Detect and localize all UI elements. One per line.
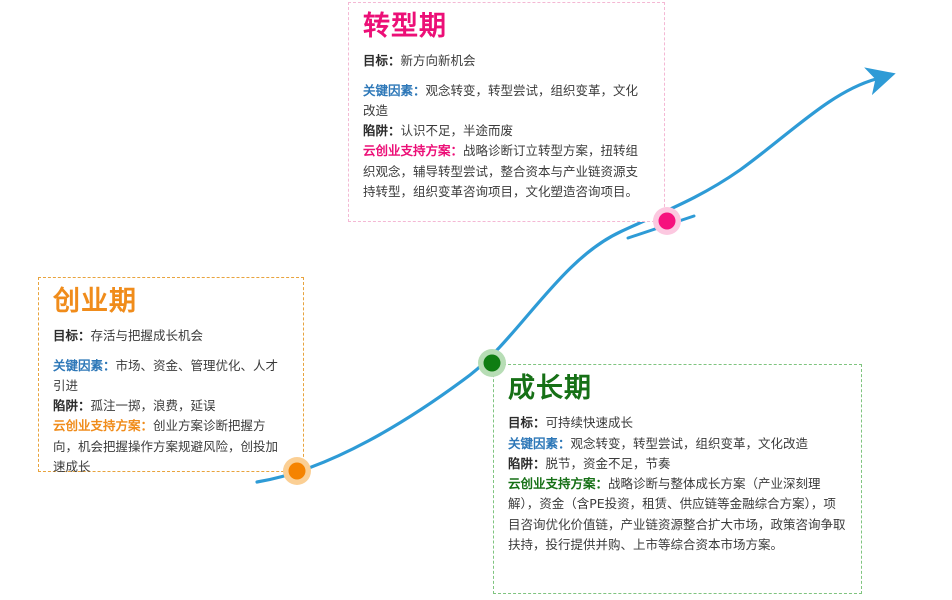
key-factors-value: 观念转变，转型尝试，组织变革，文化改造 (571, 436, 809, 451)
marker-core (484, 355, 501, 372)
key-factors-label: 关键因素： (508, 436, 571, 451)
key-factors-label: 关键因素： (53, 358, 116, 373)
goal-value: 可持续快速成长 (546, 415, 634, 430)
marker-core (289, 463, 306, 480)
pitfall-value: 认识不足，半途而废 (401, 123, 514, 138)
solution-label: 云创业支持方案： (363, 143, 463, 158)
stage-card-transform[interactable]: 转型期 目标：新方向新机会 关键因素：观念转变，转型尝试，组织变革，文化改造 陷… (348, 2, 665, 222)
stage-card-startup[interactable]: 创业期 目标：存活与把握成长机会 关键因素：市场、资金、管理优化、人才引进 陷阱… (38, 277, 304, 472)
solution-label: 云创业支持方案： (508, 476, 608, 491)
stage-goal-growth: 目标：可持续快速成长 (508, 413, 847, 433)
goal-label: 目标： (53, 328, 91, 343)
stage-title-startup: 创业期 (53, 288, 289, 316)
pitfall-label: 陷阱： (508, 456, 546, 471)
stage-solution-growth: 云创业支持方案：战略诊断与整体成长方案（产业深刻理解），资金（含PE投资，租赁、… (508, 474, 847, 555)
stage-key-factors-growth: 关键因素：观念转变，转型尝试，组织变革，文化改造 (508, 434, 847, 454)
pitfall-label: 陷阱： (53, 398, 91, 413)
key-factors-label: 关键因素： (363, 83, 426, 98)
marker-core (659, 213, 676, 230)
stage-goal-startup: 目标：存活与把握成长机会 (53, 326, 289, 346)
goal-label: 目标： (363, 53, 401, 68)
goal-label: 目标： (508, 415, 546, 430)
stage-key-factors-transform: 关键因素：观念转变，转型尝试，组织变革，文化改造 (363, 81, 650, 122)
solution-label: 云创业支持方案： (53, 418, 153, 433)
pitfall-label: 陷阱： (363, 123, 401, 138)
stage-card-growth[interactable]: 成长期 目标：可持续快速成长 关键因素：观念转变，转型尝试，组织变革，文化改造 … (493, 364, 862, 594)
stage-title-growth: 成长期 (508, 375, 847, 403)
goal-value: 存活与把握成长机会 (91, 328, 204, 343)
pitfall-value: 孤注一掷，浪费，延误 (91, 398, 216, 413)
stage-pitfall-transform: 陷阱：认识不足，半途而废 (363, 121, 650, 141)
stage-pitfall-growth: 陷阱：脱节，资金不足，节奏 (508, 454, 847, 474)
stage-solution-transform: 云创业支持方案：战略诊断订立转型方案，扭转组织观念，辅导转型尝试，整合资本与产业… (363, 141, 650, 202)
stage-key-factors-startup: 关键因素：市场、资金、管理优化、人才引进 (53, 356, 289, 397)
diagram-canvas: 创业期 目标：存活与把握成长机会 关键因素：市场、资金、管理优化、人才引进 陷阱… (0, 0, 952, 600)
pitfall-value: 脱节，资金不足，节奏 (546, 456, 671, 471)
stage-goal-transform: 目标：新方向新机会 (363, 51, 650, 71)
stage-solution-startup: 云创业支持方案：创业方案诊断把握方向，机会把握操作方案规避风险，创投加速成长 (53, 416, 289, 477)
stage-title-transform: 转型期 (363, 13, 650, 41)
stage-pitfall-startup: 陷阱：孤注一掷，浪费，延误 (53, 396, 289, 416)
goal-value: 新方向新机会 (401, 53, 476, 68)
